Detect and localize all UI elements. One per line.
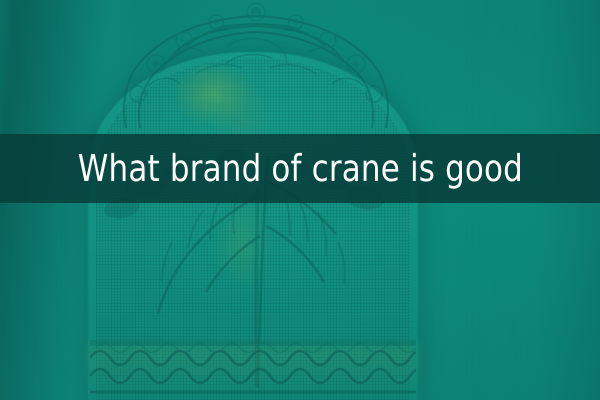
caption-banner: What brand of crane is good xyxy=(0,134,600,203)
image-canvas: What brand of crane is good xyxy=(0,0,600,400)
caption-text: What brand of crane is good xyxy=(77,150,522,187)
